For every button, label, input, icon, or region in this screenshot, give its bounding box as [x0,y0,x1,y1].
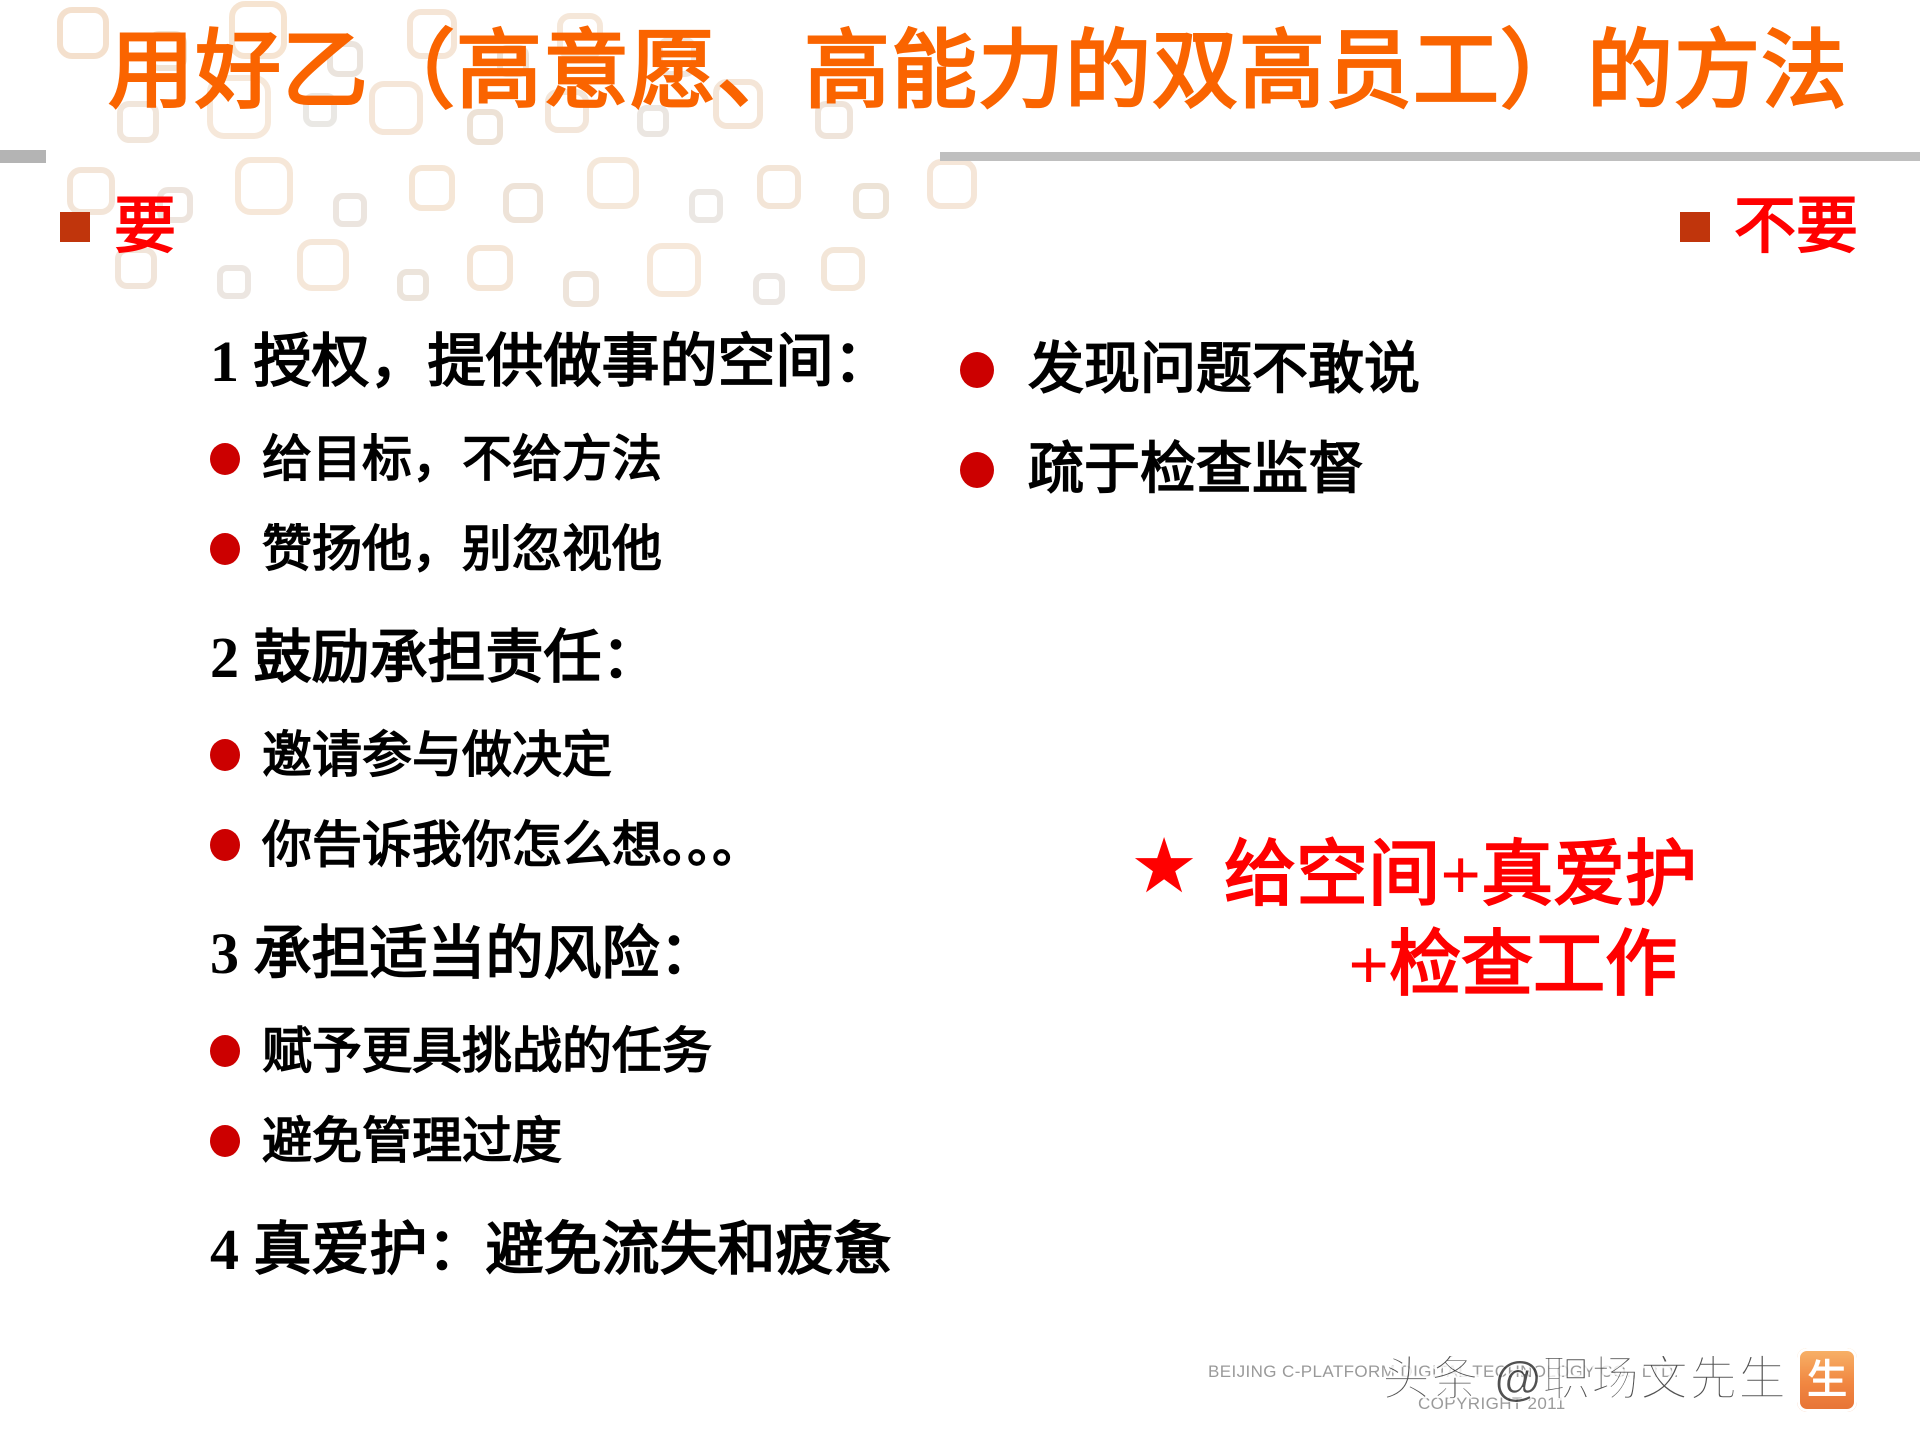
list-item: 1 授权，提供做事的空间： [210,314,940,398]
star-icon: ★ [1130,830,1198,902]
bullet-dot-icon [210,443,240,475]
bullet-dot-icon [210,533,240,565]
list-item-label: 你告诉我你怎么想。。。 [262,820,762,870]
list-item: 4 真爱护：避免流失和疲惫 [210,1202,940,1286]
watermark-text: 头条 @职场文先生 [1382,1356,1787,1404]
list-item-label: 疏于检查监督 [1028,442,1364,498]
list-item-label: 发现问题不敢说 [1028,342,1420,398]
left-column-heading: 要 [60,196,940,258]
bullet-dot-icon [210,1035,240,1067]
right-column-heading: 不要 [1680,196,1920,258]
list-item: 赞扬他，别忽视他 [210,524,940,574]
list-item-label: 给目标，不给方法 [262,434,662,484]
slide-title: 用好乙（高意愿、高能力的双高员工）的方法 [108,24,1848,119]
right-column: 不要 发现问题不敢说 疏于检查监督 [900,196,1920,498]
slide-canvas: 用好乙（高意愿、高能力的双高员工）的方法 要 1 授权，提供做事的空间： 给目标… [0,0,1920,1440]
title-rule-right [940,152,1920,161]
title-rule-left [0,150,46,163]
callout-line-1: 给空间+真爱护 [1224,835,1697,915]
list-item: 邀请参与做决定 [210,730,940,780]
list-item: 赋予更具挑战的任务 [210,1026,940,1076]
bullet-dot-icon [210,739,240,771]
right-bullet-list: 发现问题不敢说 疏于检查监督 [960,342,1920,498]
list-item: 你告诉我你怎么想。。。 [210,820,940,870]
list-item: 疏于检查监督 [960,442,1920,498]
list-item: 发现问题不敢说 [960,342,1920,398]
list-item-label: 邀请参与做决定 [262,730,612,780]
left-heading-label: 要 [114,196,176,258]
list-item-label: 避免管理过度 [262,1116,562,1166]
right-heading-label: 不要 [1734,196,1858,258]
list-item: 避免管理过度 [210,1116,940,1166]
list-item: 3 承担适当的风险： [210,906,940,990]
left-column: 要 1 授权，提供做事的空间： 给目标，不给方法 赞扬他，别忽视他 2 鼓励承担… [60,196,940,1286]
bullet-dot-icon [210,829,240,861]
list-item: 给目标，不给方法 [210,434,940,484]
bullet-dot-icon [960,452,994,488]
list-item-label: 赋予更具挑战的任务 [262,1026,712,1076]
callout-line-2: +检查工作 [1224,920,1697,1010]
square-marker-icon [1680,212,1710,242]
bullet-dot-icon [960,352,994,388]
watermark-badge-icon: 生 [1797,1348,1857,1412]
bullet-dot-icon [210,1125,240,1157]
list-item-label: 赞扬他，别忽视他 [262,524,662,574]
watermark: 头条 @职场文先生 生 [1382,1348,1857,1412]
summary-callout: ★ 给空间+真爱护 +检查工作 [1130,830,1920,1010]
list-item: 2 鼓励承担责任： [210,610,940,694]
square-marker-icon [60,212,90,242]
